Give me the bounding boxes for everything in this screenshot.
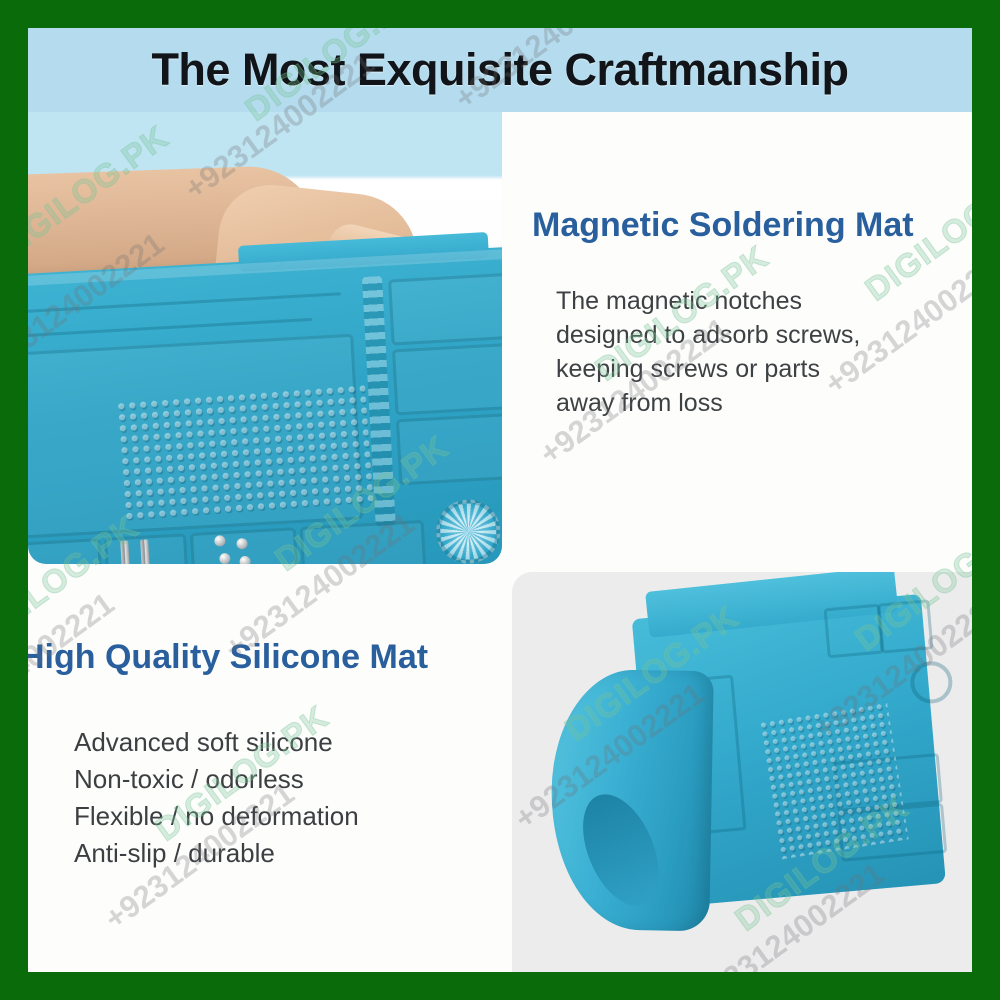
- mat-bump-grid: [758, 701, 908, 860]
- silicone-body-line: Anti-slip / durable: [74, 835, 494, 872]
- magnetic-body: The magnetic notches designed to adsorb …: [556, 284, 956, 420]
- mat-groove: [28, 318, 312, 338]
- header-band: The Most Exquisite Craftmanship: [28, 28, 972, 112]
- magnetic-section: Magnetic Soldering Mat The magnetic notc…: [510, 124, 972, 554]
- mat-compartment: [877, 599, 933, 653]
- magnetic-heading: Magnetic Soldering Mat: [532, 206, 914, 245]
- mat-compartment: [392, 342, 502, 415]
- mat-compartment: [388, 273, 502, 346]
- mat-tray-slot: [300, 520, 427, 564]
- page-title: The Most Exquisite Craftmanship: [151, 44, 848, 96]
- silicone-body: Advanced soft silicone Non-toxic / odorl…: [74, 724, 494, 872]
- rolled-flexible-mat-photo: [512, 572, 972, 972]
- silicone-mat-object: [28, 245, 502, 564]
- silicone-body-line: Flexible / no deformation: [74, 798, 494, 835]
- screw: [219, 553, 231, 564]
- green-border-frame: The Most Exquisite Craftmanship: [0, 0, 1000, 1000]
- magnetic-body-line: The magnetic notches: [556, 284, 956, 318]
- silicone-body-line: Non-toxic / odorless: [74, 761, 494, 798]
- magnetic-body-line: keeping screws or parts: [556, 352, 956, 386]
- silicone-heading: High Quality Silicone Mat: [28, 638, 428, 677]
- mat-compartment: [824, 604, 884, 659]
- hand-holding-mat-photo: [28, 112, 502, 564]
- magnetic-body-line: designed to adsorb screws,: [556, 318, 956, 352]
- circular-magnetic-pad: [435, 498, 502, 564]
- silicone-body-line: Advanced soft silicone: [74, 724, 494, 761]
- mat-tray-slot: [28, 538, 103, 564]
- content-area: The Most Exquisite Craftmanship: [28, 28, 972, 972]
- mat-bump-grid: [115, 383, 373, 521]
- screw: [239, 556, 251, 564]
- mat-compartment: [396, 412, 502, 485]
- mat-groove: [28, 292, 341, 313]
- rolled-mat-object: [550, 575, 937, 935]
- silicone-section: High Quality Silicone Mat Advanced soft …: [28, 576, 506, 972]
- magnetic-body-line: away from loss: [556, 386, 956, 420]
